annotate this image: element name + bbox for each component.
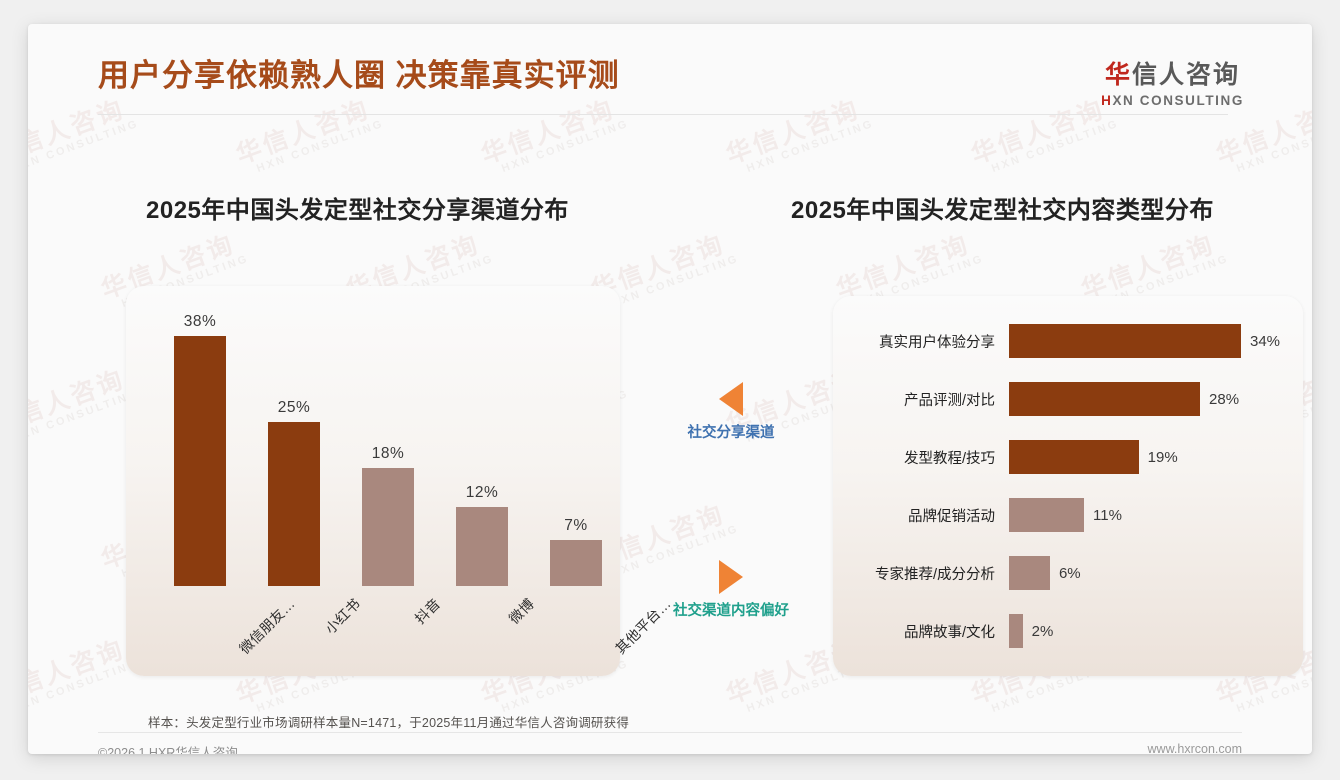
bar-row-label: 产品评测/对比: [841, 389, 1009, 410]
watermark-text: 华信人咨询HXN CONSULTING: [28, 633, 141, 720]
logo-en-rest: XN CONSULTING: [1112, 93, 1244, 108]
bar-column: 25%: [268, 399, 320, 586]
slide-header: 用户分享依赖熟人圈 决策靠真实评测 华信人咨询 HXN CONSULTING: [28, 24, 1312, 124]
bar-category-label: 抖音: [410, 594, 444, 628]
slide: 华信人咨询HXN CONSULTING华信人咨询HXN CONSULTING华信…: [28, 24, 1312, 754]
watermark-text: 华信人咨询HXN CONSULTING: [28, 363, 141, 450]
page-title: 用户分享依赖熟人圈 决策靠真实评测: [98, 50, 620, 95]
logo-cn-accent: 华: [1105, 61, 1132, 89]
bar-column: 12%: [456, 484, 508, 586]
bar-row-label: 发型教程/技巧: [841, 447, 1009, 468]
left-chart-title: 2025年中国头发定型社交分享渠道分布: [146, 190, 569, 225]
bar-rect: [1009, 556, 1050, 590]
footer-copyright: ©2026.1 HXR华信人咨询: [98, 742, 238, 754]
title-divider: [98, 114, 1228, 115]
footer-website: www.hxrcon.com: [1148, 742, 1242, 754]
bar-rect: [1009, 324, 1241, 358]
bar-row-value: 11%: [1084, 507, 1122, 524]
bar-row: 真实用户体验分享34%: [841, 324, 1280, 358]
bar-rect: [550, 540, 602, 586]
left-chart-card: 38%微信朋友…25%小红书18%抖音12%微博7%其他平台…: [126, 286, 620, 676]
bar-row-value: 34%: [1241, 333, 1280, 350]
connector-social-share-channel: 社交分享渠道: [626, 382, 836, 442]
bar-rect: [174, 336, 226, 586]
sample-footnote: 样本：头发定型行业市场调研样本量N=1471，于2025年11月通过华信人咨询调…: [148, 712, 629, 731]
logo-chinese: 华信人咨询: [1101, 62, 1244, 90]
bar-row-value: 2%: [1023, 623, 1054, 640]
triangle-right-icon: [719, 560, 743, 594]
triangle-left-icon: [719, 382, 743, 416]
bar-value-label: 38%: [184, 313, 217, 331]
vertical-bar-chart: 38%微信朋友…25%小红书18%抖音12%微博7%其他平台…: [126, 286, 620, 676]
bar-row-value: 19%: [1139, 449, 1178, 466]
bar-row-label: 真实用户体验分享: [841, 331, 1009, 352]
bar-category-label: 微信朋友…: [235, 594, 299, 658]
footer-divider: [98, 732, 1242, 733]
bar-value-label: 18%: [372, 445, 405, 463]
bar-value-label: 12%: [466, 484, 499, 502]
bar-row-value: 28%: [1200, 391, 1239, 408]
connector-content-preference: 社交渠道内容偏好: [626, 560, 836, 620]
bar-row: 专家推荐/成分分析6%: [841, 556, 1081, 590]
brand-logo: 华信人咨询 HXN CONSULTING: [1101, 62, 1244, 108]
bar-rect: [1009, 614, 1023, 648]
horizontal-bar-chart: 真实用户体验分享34%产品评测/对比28%发型教程/技巧19%品牌促销活动11%…: [833, 296, 1303, 676]
bar-value-label: 25%: [278, 399, 311, 417]
connector-label-0: 社交分享渠道: [626, 421, 836, 442]
bar-column: 18%: [362, 445, 414, 586]
bar-column: 7%: [550, 517, 602, 586]
right-chart-title: 2025年中国头发定型社交内容类型分布: [791, 190, 1214, 225]
bar-row: 品牌促销活动11%: [841, 498, 1122, 532]
bar-rect: [1009, 498, 1084, 532]
bar-rect: [268, 422, 320, 586]
bar-row-label: 专家推荐/成分分析: [841, 563, 1009, 584]
bar-row: 发型教程/技巧19%: [841, 440, 1178, 474]
bar-rect: [362, 468, 414, 586]
bar-category-label: 微博: [504, 594, 538, 628]
bar-value-label: 7%: [564, 517, 587, 535]
right-chart-card: 真实用户体验分享34%产品评测/对比28%发型教程/技巧19%品牌促销活动11%…: [833, 296, 1303, 676]
logo-english: HXN CONSULTING: [1101, 94, 1244, 109]
bar-rect: [456, 507, 508, 586]
bar-row: 品牌故事/文化2%: [841, 614, 1053, 648]
logo-en-accent: H: [1101, 93, 1112, 108]
bar-category-label: 小红书: [320, 594, 364, 638]
bar-rect: [1009, 382, 1200, 416]
bar-column: 38%: [174, 313, 226, 586]
bar-rect: [1009, 440, 1139, 474]
bar-row-label: 品牌故事/文化: [841, 621, 1009, 642]
bar-row-value: 6%: [1050, 565, 1081, 582]
bar-row: 产品评测/对比28%: [841, 382, 1239, 416]
bar-row-label: 品牌促销活动: [841, 505, 1009, 526]
connector-label-1: 社交渠道内容偏好: [626, 599, 836, 620]
logo-cn-rest: 信人咨询: [1132, 61, 1240, 89]
